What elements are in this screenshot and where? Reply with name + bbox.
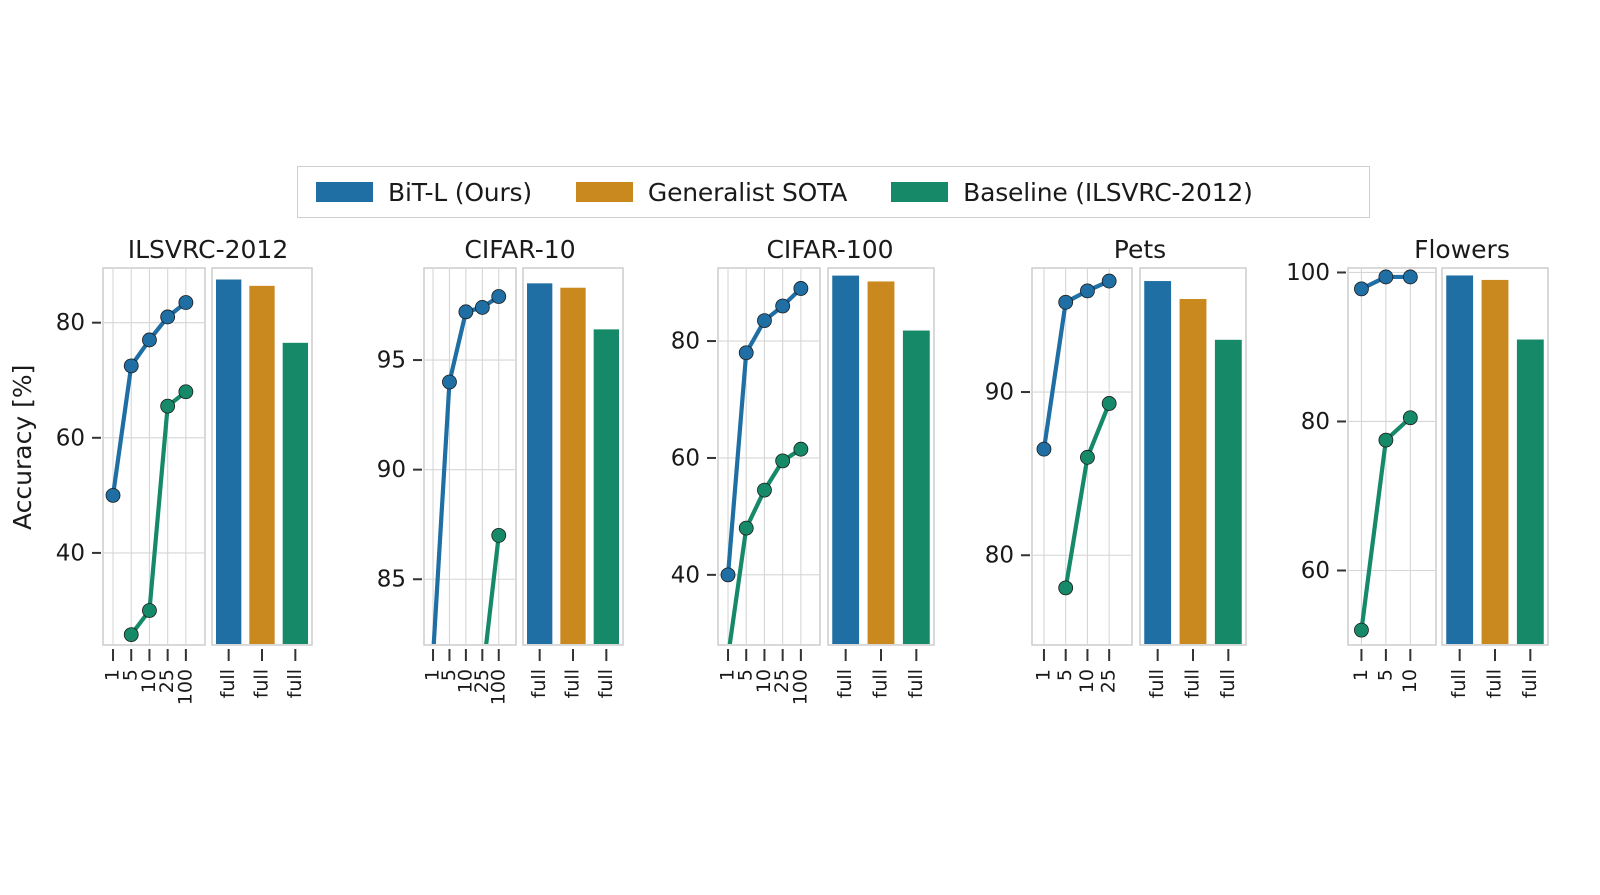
x-tick-label: full [1519, 669, 1541, 698]
legend-label: BiT-L (Ours) [388, 178, 532, 207]
legend-swatch-icon [891, 182, 948, 202]
subplot-grid: ILSVRC-2012406080151025100fullfullfullCI… [0, 0, 1600, 891]
x-tick-label: 1 [1032, 669, 1054, 681]
bar [216, 280, 241, 644]
data-point [1354, 623, 1368, 637]
bar [594, 329, 619, 644]
data-point [1037, 442, 1051, 456]
bar [868, 281, 895, 644]
data-point [1059, 295, 1073, 309]
legend-entry: Baseline (ILSVRC-2012) [891, 178, 1253, 207]
data-point [179, 385, 193, 399]
y-tick-label: 95 [377, 348, 406, 374]
subplot-cifar-100: CIFAR-100406080151025100fullfullfull [671, 235, 934, 705]
chart-legend: BiT-L (Ours)Generalist SOTABaseline (ILS… [297, 166, 1370, 218]
x-tick-label: full [284, 669, 306, 698]
legend-entry: BiT-L (Ours) [316, 178, 532, 207]
x-tick-label: full [562, 669, 584, 698]
data-point [794, 281, 808, 295]
data-point [776, 454, 790, 468]
x-tick-label: 10 [1076, 669, 1098, 693]
subplot-title: CIFAR-100 [766, 235, 893, 264]
legend-label: Generalist SOTA [648, 178, 847, 207]
bar [1517, 340, 1544, 644]
data-point [492, 289, 506, 303]
x-tick-label: 5 [1374, 669, 1396, 681]
x-tick-label: 100 [789, 669, 811, 705]
subplot-flowers: Flowers60801001510fullfullfull [1286, 235, 1548, 698]
data-point [1379, 433, 1393, 447]
data-point [459, 305, 473, 319]
y-tick-label: 80 [671, 329, 700, 355]
data-point [106, 488, 120, 502]
subplot-ilsvrc-2012: ILSVRC-2012406080151025100fullfullfull [56, 235, 312, 705]
data-point [1403, 270, 1417, 284]
y-tick-label: 80 [985, 543, 1014, 569]
y-tick-label: 80 [56, 310, 85, 336]
data-point [179, 296, 193, 310]
legend-entry: Generalist SOTA [576, 178, 847, 207]
data-point [1102, 396, 1116, 410]
x-tick-label: full [905, 669, 927, 698]
data-point [1379, 270, 1393, 284]
subplot-title: ILSVRC-2012 [128, 235, 289, 264]
data-point [492, 528, 506, 542]
y-tick-label: 90 [377, 457, 406, 483]
x-tick-label: full [251, 669, 273, 698]
legend-swatch-icon [316, 182, 373, 202]
x-tick-label: 100 [487, 669, 509, 705]
bar [283, 343, 308, 644]
y-tick-label: 80 [1301, 409, 1330, 435]
data-point [161, 310, 175, 324]
bar [560, 288, 585, 644]
x-tick-label: 25 [1098, 669, 1120, 693]
data-point [757, 483, 771, 497]
x-tick-label: full [1217, 669, 1239, 698]
y-tick-label: 85 [377, 567, 406, 593]
subplot-title: CIFAR-10 [464, 235, 575, 264]
bar [1446, 275, 1473, 644]
subplot-title: Flowers [1414, 235, 1510, 264]
bar [832, 276, 859, 644]
x-tick-label: full [595, 669, 617, 698]
y-tick-label: 40 [56, 540, 85, 566]
bar [527, 283, 552, 644]
x-tick-label: 1 [1350, 669, 1372, 681]
x-tick-label: full [870, 669, 892, 698]
bar [1215, 340, 1242, 644]
x-tick-label: full [1146, 669, 1168, 698]
data-point [161, 399, 175, 413]
data-point [721, 568, 735, 582]
data-point [739, 346, 753, 360]
data-point [1403, 411, 1417, 425]
data-point [776, 299, 790, 313]
data-point [142, 603, 156, 617]
y-tick-label: 60 [1301, 558, 1330, 584]
data-point [124, 359, 138, 373]
data-point [1354, 282, 1368, 296]
subplot-pets: Pets8090151025fullfullfull [985, 235, 1246, 698]
data-point [1102, 274, 1116, 288]
bar [1482, 280, 1509, 644]
data-point [794, 442, 808, 456]
legend-label: Baseline (ILSVRC-2012) [963, 178, 1253, 207]
x-tick-label: full [217, 669, 239, 698]
x-tick-label: full [1484, 669, 1506, 698]
data-point [1080, 284, 1094, 298]
y-tick-label: 90 [985, 380, 1014, 406]
data-point [442, 375, 456, 389]
x-tick-label: full [528, 669, 550, 698]
x-tick-label: full [1182, 669, 1204, 698]
data-point [142, 333, 156, 347]
subplot-title: Pets [1114, 235, 1166, 264]
data-point [757, 314, 771, 328]
y-tick-label: 100 [1286, 260, 1330, 286]
data-point [475, 300, 489, 314]
x-tick-label: full [1448, 669, 1470, 698]
data-point [1059, 581, 1073, 595]
y-tick-label: 60 [671, 445, 700, 471]
legend-swatch-icon [576, 182, 633, 202]
x-tick-label: 100 [174, 669, 196, 705]
data-point [739, 521, 753, 535]
bar [1144, 281, 1171, 644]
bar [903, 331, 930, 644]
y-tick-label: 60 [56, 425, 85, 451]
y-axis-label: Accuracy [%] [8, 490, 37, 530]
x-tick-label: 10 [1399, 669, 1421, 693]
bar [1180, 299, 1207, 644]
figure-canvas: BiT-L (Ours)Generalist SOTABaseline (ILS… [0, 0, 1600, 891]
x-tick-label: full [834, 669, 856, 698]
data-point [1080, 450, 1094, 464]
y-tick-label: 40 [671, 562, 700, 588]
data-point [124, 628, 138, 642]
bar [249, 286, 274, 644]
subplot-cifar-10: CIFAR-10859095151025100fullfullfull [377, 235, 623, 705]
x-tick-label: 5 [1054, 669, 1076, 681]
